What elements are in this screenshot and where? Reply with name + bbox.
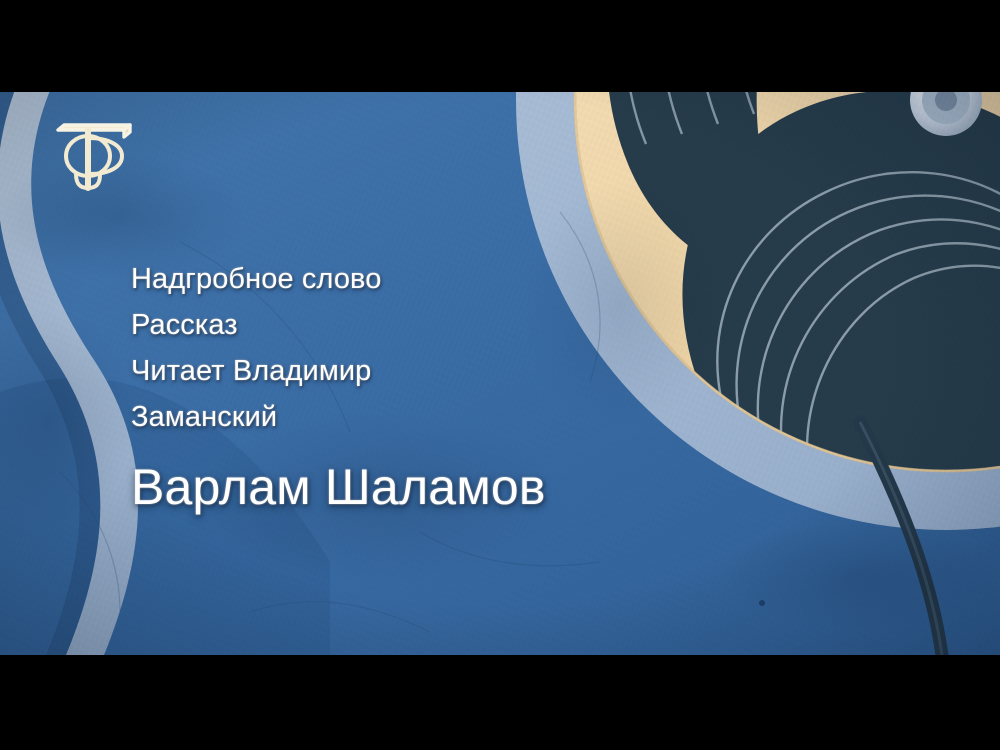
letterbox-bar-top (0, 0, 1000, 92)
title-line-4: Заманский (131, 394, 771, 440)
title-line-1: Надгробное слово (131, 256, 771, 302)
gosteleradiofond-logo (50, 118, 138, 194)
author-name: Варлам Шаламов (131, 458, 771, 516)
thumbnail-image: Надгробное слово Рассказ Читает Владимир… (0, 92, 1000, 655)
letterbox-bar-bottom (0, 655, 1000, 750)
video-thumbnail: Надгробное слово Рассказ Читает Владимир… (0, 0, 1000, 750)
title-card-text: Надгробное слово Рассказ Читает Владимир… (131, 256, 771, 516)
tb-monogram-icon (50, 118, 138, 194)
texture-speck (759, 600, 765, 606)
title-line-3: Читает Владимир (131, 348, 771, 394)
title-line-2: Рассказ (131, 302, 771, 348)
